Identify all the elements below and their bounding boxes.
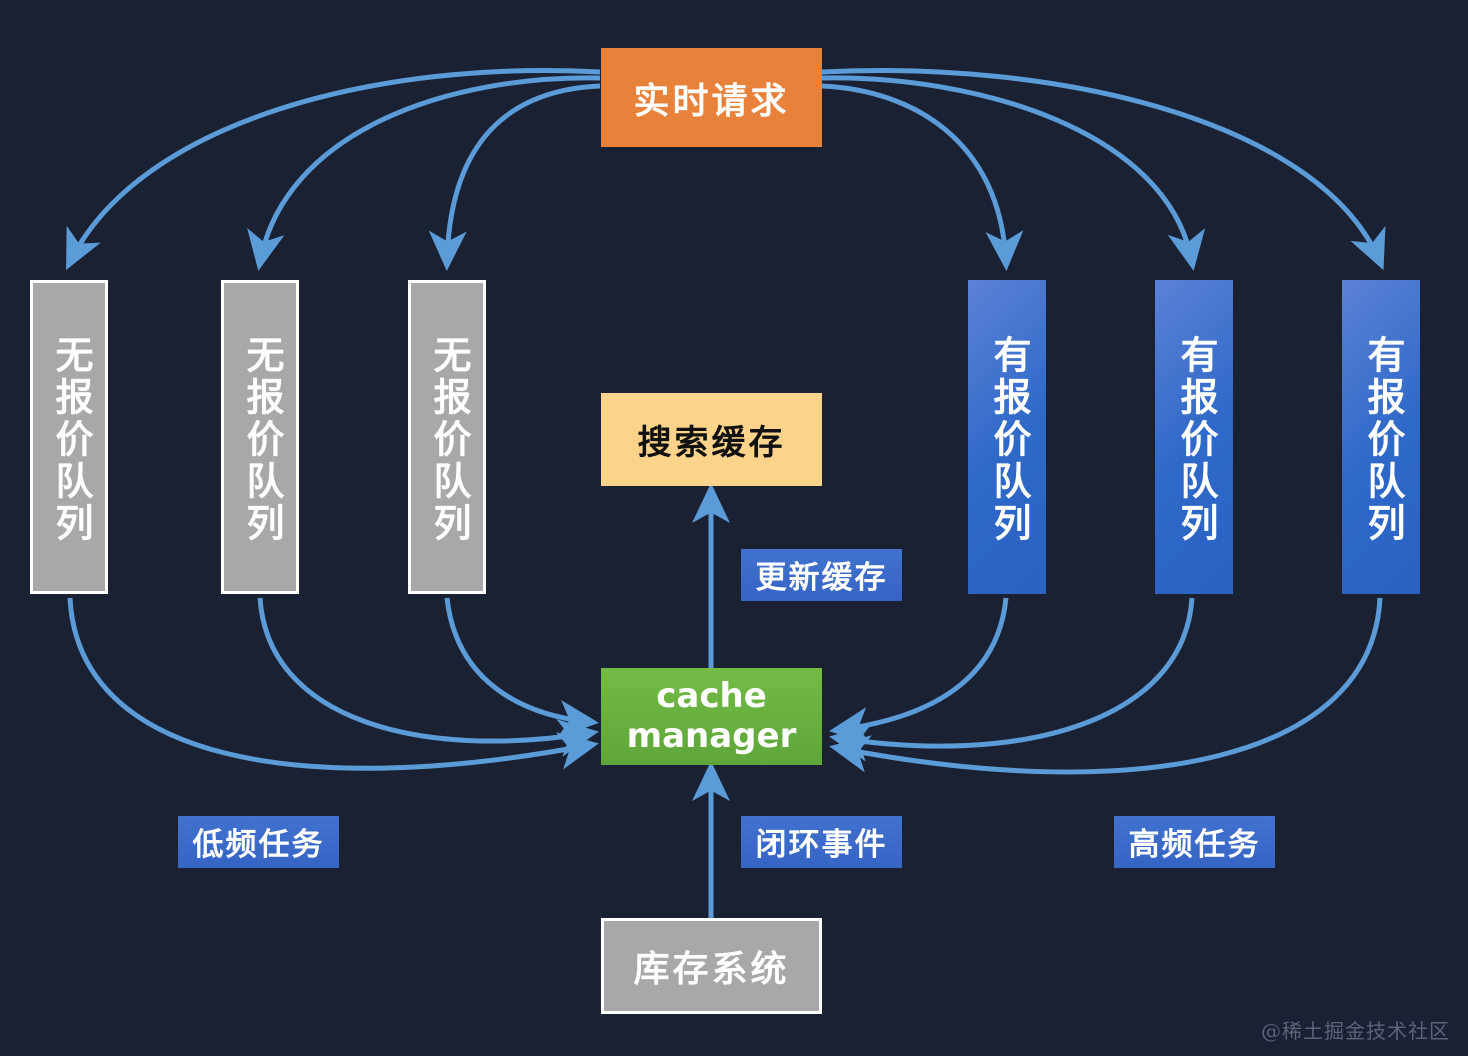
edge-request-to-hasquote-3 [822,71,1380,262]
watermark: @稀土掘金技术社区 [1261,1015,1450,1044]
edge-request-to-noquote-2 [260,78,600,262]
edge-noquote-3-to-manager [447,598,590,722]
edge-request-to-hasquote-1 [822,86,1006,262]
edge-hasquote-2-to-manager [838,598,1192,746]
node-search-cache[interactable]: 搜索缓存 [601,393,822,486]
node-cache-manager[interactable]: cache manager [601,668,822,765]
node-has-quote-queue-3-label: 有报价队列 [1361,335,1401,545]
edge-request-to-noquote-1 [70,71,600,262]
edge-label-update-cache: 更新缓存 [741,549,902,601]
node-no-quote-queue-2-label: 无报价队列 [240,335,280,545]
edge-label-high-frequency-task: 高频任务 [1114,816,1275,868]
node-realtime-request-label: 实时请求 [633,72,789,124]
edge-label-closed-loop-event: 闭环事件 [741,816,902,868]
edge-label-low-frequency-task: 低频任务 [178,816,339,868]
node-cache-manager-line2: manager [627,717,797,756]
node-no-quote-queue-1[interactable]: 无报价队列 [30,280,108,594]
node-no-quote-queue-2[interactable]: 无报价队列 [221,280,299,594]
node-inventory-system-label: 库存系统 [633,940,789,992]
node-no-quote-queue-3[interactable]: 无报价队列 [408,280,486,594]
edge-label-high-frequency-task-text: 高频任务 [1129,819,1261,864]
node-cache-manager-line1: cache [656,677,767,716]
node-search-cache-label: 搜索缓存 [638,415,786,464]
edge-label-low-frequency-task-text: 低频任务 [193,819,325,864]
edge-noquote-1-to-manager [70,598,590,768]
node-no-quote-queue-3-label: 无报价队列 [427,335,467,545]
edge-hasquote-3-to-manager [838,598,1380,772]
node-has-quote-queue-2[interactable]: 有报价队列 [1155,280,1233,594]
edge-request-to-noquote-3 [447,86,600,262]
node-has-quote-queue-1-label: 有报价队列 [987,335,1027,545]
node-has-quote-queue-2-label: 有报价队列 [1174,335,1214,545]
edge-hasquote-1-to-manager [838,598,1006,730]
diagram-canvas: 实时请求 无报价队列 无报价队列 无报价队列 有报价队列 有报价队列 有报价队列… [0,0,1468,1056]
edge-label-closed-loop-event-text: 闭环事件 [756,819,888,864]
node-inventory-system[interactable]: 库存系统 [601,918,822,1014]
node-has-quote-queue-3[interactable]: 有报价队列 [1342,280,1420,594]
node-realtime-request[interactable]: 实时请求 [601,48,822,147]
node-no-quote-queue-1-label: 无报价队列 [49,335,89,545]
edge-noquote-2-to-manager [260,598,590,741]
edge-request-to-hasquote-2 [822,78,1192,262]
node-has-quote-queue-1[interactable]: 有报价队列 [968,280,1046,594]
edge-label-update-cache-text: 更新缓存 [756,552,888,597]
